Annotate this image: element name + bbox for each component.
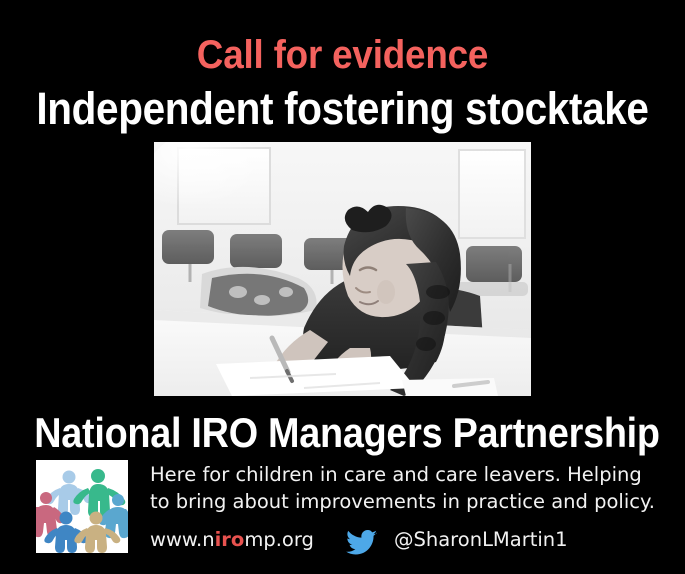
url-prefix: www.n (150, 528, 215, 551)
strapline-line-1: Here for children in care and care leave… (150, 461, 670, 488)
url-suffix: mp.org (244, 528, 314, 551)
eyebrow-heading: Call for evidence (27, 33, 657, 77)
contact-row: www.niromp.org @SharonLMartin1 (150, 523, 680, 563)
page-title: Independent fostering stocktake (34, 84, 651, 134)
twitter-handle[interactable]: @SharonLMartin1 (394, 526, 568, 553)
organisation-heading: National IRO Managers Partnership (34, 409, 651, 456)
strapline: Here for children in care and care leave… (150, 461, 670, 515)
url-accent: iro (215, 528, 245, 551)
poster-canvas: Call for evidence Independent fostering … (0, 0, 685, 574)
niromp-logo (36, 460, 128, 553)
photo-illustration (154, 142, 531, 396)
twitter-bird-glyph (346, 530, 378, 558)
strapline-line-2: to bring about improvements in practice … (150, 488, 670, 515)
website-url[interactable]: www.niromp.org (150, 526, 314, 553)
photo-child-writing (154, 142, 531, 396)
logo-people-circle-icon (36, 460, 128, 553)
twitter-bird-icon[interactable] (346, 530, 378, 558)
